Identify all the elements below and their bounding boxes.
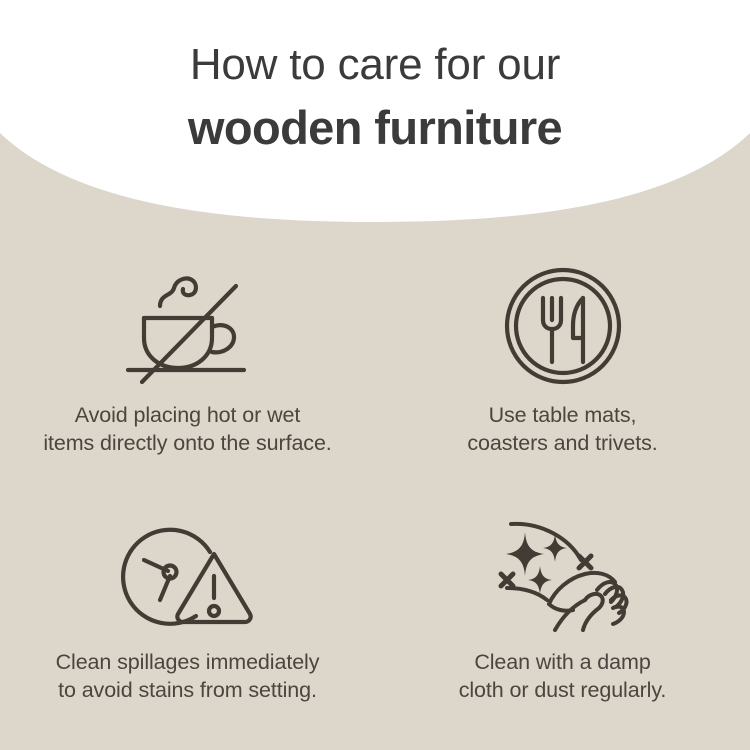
care-tips-grid: Avoid placing hot or wet items directly … (0, 240, 750, 730)
tip-caption: Clean with a damp cloth or dust regularl… (393, 648, 733, 705)
tip-caption: Avoid placing hot or wet items directly … (18, 401, 358, 458)
caption-line-2: coasters and trivets. (393, 429, 733, 457)
caption-line-2: to avoid stains from setting. (18, 676, 358, 704)
tip-icon-wrapper (501, 240, 625, 393)
tip-icon-wrapper (493, 485, 633, 640)
no-hot-drink-icon (120, 264, 256, 388)
caption-line-1: Avoid placing hot or wet (18, 401, 358, 429)
hand-wiping-sparkle-icon (493, 512, 633, 634)
page-title: How to care for our wooden furniture (0, 0, 750, 151)
tip-icon-wrapper (120, 240, 256, 393)
caption-line-2: items directly onto the surface. (18, 429, 358, 457)
plate-fork-knife-icon (501, 264, 625, 388)
title-line-emphasis: wooden furniture (0, 87, 750, 151)
tip-icon-wrapper (118, 485, 258, 640)
caption-line-1: Clean with a damp (393, 648, 733, 676)
caption-line-1: Use table mats, (393, 401, 733, 429)
tip-card-clean-damp-cloth: Clean with a damp cloth or dust regularl… (375, 485, 750, 730)
caption-line-2: cloth or dust regularly. (393, 676, 733, 704)
clock-warning-icon (118, 514, 258, 632)
title-line-primary: How to care for our (0, 0, 750, 87)
tip-card-use-table-mats: Use table mats, coasters and trivets. (375, 240, 750, 485)
caption-line-1: Clean spillages immediately (18, 648, 358, 676)
tip-card-clean-spillages: Clean spillages immediately to avoid sta… (0, 485, 375, 730)
tip-caption: Use table mats, coasters and trivets. (393, 401, 733, 458)
header-banner: How to care for our wooden furniture (0, 0, 750, 235)
tip-caption: Clean spillages immediately to avoid sta… (18, 648, 358, 705)
tip-card-avoid-hot-wet: Avoid placing hot or wet items directly … (0, 240, 375, 485)
